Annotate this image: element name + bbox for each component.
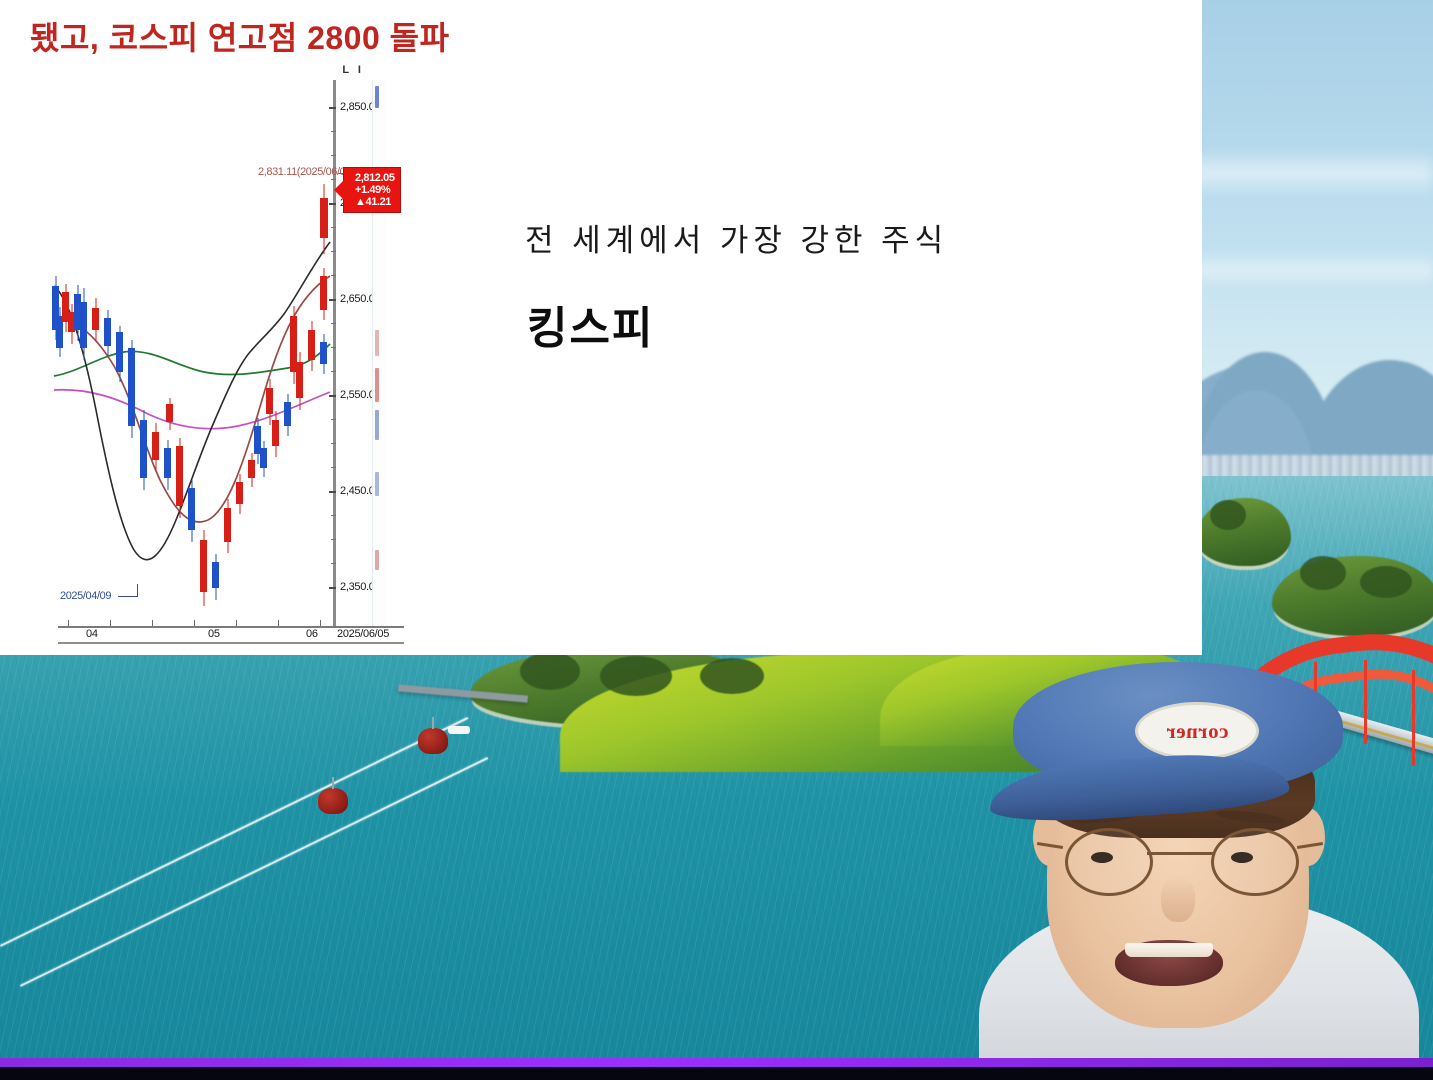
candle <box>266 388 273 414</box>
webcam-overlay[interactable]: corner <box>963 640 1433 1062</box>
chart-low-leader-line <box>118 596 138 597</box>
y-tick-minor <box>331 443 336 444</box>
chart-high-annotation: 2,831.11(2025/06/05) <box>258 166 354 178</box>
y-tick <box>329 203 336 205</box>
cap-logo-text: corner <box>1166 719 1228 744</box>
y-tick <box>329 395 336 397</box>
candle <box>260 448 267 468</box>
price-change: ▲41.21 <box>355 196 395 208</box>
tree-cluster <box>520 652 580 690</box>
x-axis-secondary <box>58 642 404 644</box>
candle <box>236 482 243 504</box>
y-tick <box>329 587 336 589</box>
x-tick-label: 06 <box>306 628 318 640</box>
tree-cluster <box>1300 556 1346 590</box>
webcam-person: corner <box>963 640 1433 1062</box>
candle <box>176 446 183 506</box>
candle <box>188 488 195 530</box>
x-tick <box>194 620 195 626</box>
current-price-tag: 2,812.05 +1.49% ▲41.21 <box>343 167 401 213</box>
candle <box>128 348 135 426</box>
y-axis <box>333 80 336 626</box>
candle <box>104 318 111 346</box>
x-tick <box>152 620 153 626</box>
candle <box>284 402 291 426</box>
candle <box>164 448 171 478</box>
x-axis-date-label: 2025/06/05 <box>337 628 389 640</box>
boat <box>448 726 470 734</box>
y-tick <box>329 107 336 109</box>
y-tick <box>329 299 336 301</box>
y-tick-minor <box>331 323 336 324</box>
tree-cluster <box>1360 566 1412 598</box>
candle <box>224 508 231 542</box>
ma-slow-line <box>54 344 330 376</box>
candle <box>272 420 279 446</box>
price-value: 2,812.05 <box>355 172 395 184</box>
bottom-bar <box>0 1067 1433 1080</box>
candle <box>320 276 327 310</box>
candle <box>80 302 87 348</box>
candle <box>52 286 59 330</box>
y-tick-minor <box>331 155 336 156</box>
price-percent: +1.49% <box>355 184 395 196</box>
scroll-mark <box>375 368 379 402</box>
eyeglasses <box>1059 828 1301 890</box>
cable-car-gondola <box>318 788 348 814</box>
chart-scroll-column[interactable] <box>372 80 387 626</box>
candle <box>296 362 303 398</box>
teeth <box>1125 943 1213 957</box>
slide-panel: 됐고, 코스피 연고점 2800 돌파 전 세계에서 가장 강한 주식 킹스피 … <box>0 0 1202 655</box>
headline-text: 됐고, 코스피 연고점 2800 돌파 <box>30 13 450 59</box>
candle <box>166 404 173 422</box>
y-tick-minor <box>331 347 336 348</box>
scroll-mark <box>375 330 379 356</box>
candle <box>152 432 159 460</box>
candle <box>92 308 99 330</box>
candle <box>116 332 123 372</box>
candle <box>308 330 315 360</box>
y-tick-minor <box>331 275 336 276</box>
stock-chart[interactable]: L I <box>48 62 400 642</box>
subheading-text: 전 세계에서 가장 강한 주식 <box>525 215 948 260</box>
candle <box>290 316 297 372</box>
chart-header-label: L I <box>342 64 364 76</box>
mouth <box>1115 940 1223 986</box>
accent-stripe <box>0 1058 1433 1067</box>
candle <box>62 292 69 322</box>
y-tick-minor <box>331 419 336 420</box>
x-tick <box>236 620 237 626</box>
tree-cluster <box>1210 500 1246 530</box>
x-tick-label: 05 <box>208 628 220 640</box>
candle <box>320 198 328 238</box>
candle <box>74 294 81 330</box>
glasses-lens <box>1065 828 1153 896</box>
candle <box>320 342 327 364</box>
x-tick-label: 04 <box>86 628 98 640</box>
keyword-text: 킹스피 <box>527 292 654 356</box>
cable-car-gondola <box>418 728 448 754</box>
scroll-mark <box>375 472 379 496</box>
plot-area[interactable] <box>48 80 332 626</box>
y-tick-minor <box>331 515 336 516</box>
glasses-bridge <box>1147 852 1213 855</box>
tree-cluster <box>600 656 672 696</box>
chart-low-leader-drop <box>137 584 138 597</box>
candle <box>248 460 255 478</box>
chart-low-annotation: 2025/04/09 <box>60 590 111 602</box>
y-tick-minor <box>331 371 336 372</box>
x-tick <box>110 620 111 626</box>
candle <box>140 420 147 478</box>
y-tick-minor <box>331 467 336 468</box>
glasses-lens <box>1211 828 1299 896</box>
candle <box>212 562 219 588</box>
candle <box>200 540 207 592</box>
x-tick <box>320 620 321 626</box>
y-tick-minor <box>331 227 336 228</box>
y-tick-minor <box>331 563 336 564</box>
y-tick <box>329 491 336 493</box>
scroll-mark <box>375 550 379 570</box>
y-tick-minor <box>331 251 336 252</box>
scroll-mark <box>375 410 379 440</box>
y-tick-minor <box>331 539 336 540</box>
candle <box>254 426 261 454</box>
x-tick <box>68 620 69 626</box>
x-tick <box>278 620 279 626</box>
scroll-mark <box>375 86 379 108</box>
stream-frame: 됐고, 코스피 연고점 2800 돌파 전 세계에서 가장 강한 주식 킹스피 … <box>0 0 1433 1080</box>
tree-cluster <box>700 658 764 694</box>
cap-logo-patch: corner <box>1135 702 1259 760</box>
y-tick-minor <box>331 131 336 132</box>
